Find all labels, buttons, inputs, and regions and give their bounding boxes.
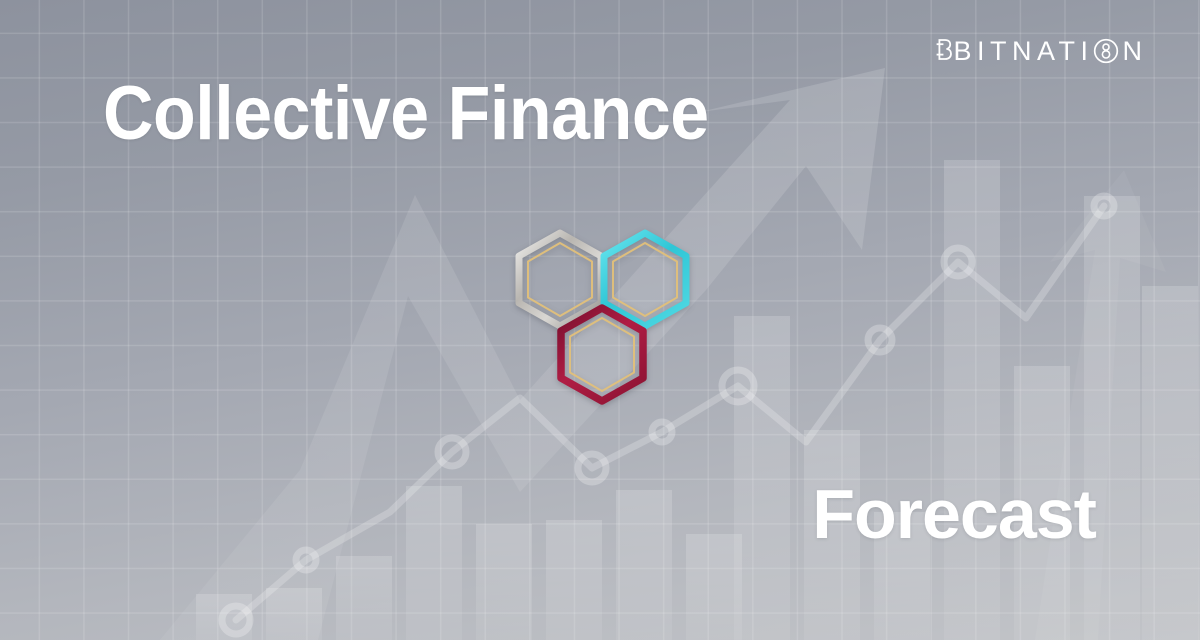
bitcoin-b-icon (936, 38, 953, 64)
hexagon-crimson (561, 308, 643, 401)
brand-text-before: BITNATI (953, 38, 1093, 65)
brand-text-after: N (1123, 38, 1143, 65)
poster-canvas: BITNATI N Collective Finance (0, 0, 1200, 640)
bitnation-o-icon (1093, 38, 1119, 64)
bitnation-brand-logo: BITNATI N (936, 36, 1142, 66)
page-subtitle: Forecast (812, 479, 1096, 549)
three-hexagon-logo (505, 225, 705, 410)
page-title: Collective Finance (103, 76, 709, 152)
